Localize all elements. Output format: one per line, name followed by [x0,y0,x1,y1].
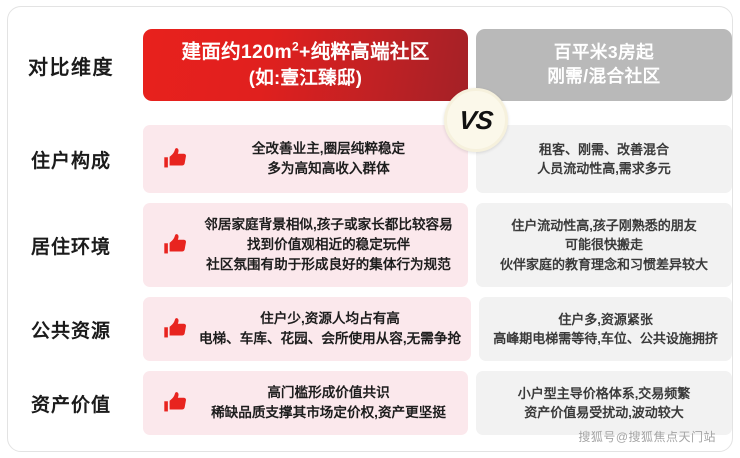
comparison-grid: 对比维度 建面约120m2+纯粹高端社区 (如:壹江臻邸) 百平米3房起 刚需/… [8,7,732,451]
spacer-left-0 [134,125,143,193]
row-label-3: 资产价值 [8,371,134,435]
con-cell-2: 住户多,资源紧张 高峰期电梯需等待,车位、公共设施拥挤 [479,297,732,361]
pro-cell-0: 全改善业主,圈层纯粹稳定 多为高知高收入群体 [143,125,468,193]
pro-cell-2: 住户少,资源人均占有高 电梯、车库、花园、会所使用从容,无需争抢 [143,297,471,361]
spacer-left-1 [134,203,143,287]
table-row: 居住环境 邻居家庭背景相似,孩子或家长都比较容易 找到价值观相近的稳定玩伴 社区… [8,203,732,287]
con-header-banner: 百平米3房起 刚需/混合社区 [476,29,732,101]
dimension-header-label: 对比维度 [8,29,134,101]
pro-cell-0-line-0: 全改善业主,圈层纯粹稳定 [252,139,405,159]
table-row: 资产价值 高门槛形成价值共识 稀缺品质支撑其市场定价权,资产更坚挺 小户型主导价… [8,371,732,435]
spacer-left-3 [134,371,143,435]
pro-cell-3-line-1: 稀缺品质支撑其市场定价权,资产更坚挺 [211,403,446,423]
con-header-line1: 百平米3房起 [554,41,654,65]
row-label-2: 公共资源 [8,297,134,361]
con-header-line2: 刚需/混合社区 [547,65,660,89]
pro-cell-2-line-0: 住户少,资源人均占有高 [260,309,400,329]
thumbs-up-icon [163,146,189,172]
spacer-mid-2 [471,297,479,361]
pro-header-line2: (如:壹江臻邸) [249,66,362,90]
thumbs-up-icon [163,316,189,342]
spacer-left [134,29,143,101]
con-cell-0: 租客、刚需、改善混合 人员流动性高,需求多元 [476,125,732,193]
con-cell-1-line-1: 可能很快搬走 [565,235,643,255]
pro-header-banner: 建面约120m2+纯粹高端社区 (如:壹江臻邸) [143,29,468,101]
pro-cell-1-line-1: 找到价值观相近的稳定玩伴 [247,235,410,255]
pro-cell-3-line-0: 高门槛形成价值共识 [267,383,389,403]
con-cell-0-line-1: 人员流动性高,需求多元 [537,159,671,179]
row-label-1: 居住环境 [8,203,134,287]
pro-header-line1-post: +纯粹高端社区 [299,41,430,63]
spacer-mid-3 [468,371,476,435]
pro-cell-1-line-2: 社区氛围有助于形成良好的集体行为规范 [206,255,451,275]
pro-header-line1-pre: 建面约120m [181,41,291,63]
vs-badge: VS [444,88,508,152]
con-cell-1: 住户流动性高,孩子刚熟悉的朋友 可能很快搬走 伙伴家庭的教育理念和习惯差异较大 [476,203,732,287]
header-row: 对比维度 建面约120m2+纯粹高端社区 (如:壹江臻邸) 百平米3房起 刚需/… [8,29,732,101]
spacer-left-2 [134,297,143,361]
con-cell-1-line-2: 伙伴家庭的教育理念和习惯差异较大 [500,255,708,275]
row-label-0: 住户构成 [8,125,134,193]
pro-header-line1: 建面约120m2+纯粹高端社区 [181,40,429,66]
comparison-card: 对比维度 建面约120m2+纯粹高端社区 (如:壹江臻邸) 百平米3房起 刚需/… [7,6,733,452]
pro-cell-3: 高门槛形成价值共识 稀缺品质支撑其市场定价权,资产更坚挺 [143,371,468,435]
pro-cell-1: 邻居家庭背景相似,孩子或家长都比较容易 找到价值观相近的稳定玩伴 社区氛围有助于… [143,203,468,287]
con-cell-1-line-0: 住户流动性高,孩子刚熟悉的朋友 [511,216,697,236]
table-row: 住户构成 全改善业主,圈层纯粹稳定 多为高知高收入群体 租客、刚需、改善混合 人… [8,125,732,193]
con-cell-3-line-0: 小户型主导价格体系,交易频繁 [518,384,691,404]
pro-cell-0-line-1: 多为高知高收入群体 [267,159,389,179]
watermark: 搜狐号@搜狐焦点天门站 [578,428,716,445]
table-row: 公共资源 住户少,资源人均占有高 电梯、车库、花园、会所使用从容,无需争抢 住户… [8,297,732,361]
vs-badge-label: VS [458,105,495,136]
con-cell-3: 小户型主导价格体系,交易频繁 资产价值易受扰动,波动较大 [476,371,732,435]
con-cell-3-line-1: 资产价值易受扰动,波动较大 [524,403,684,423]
spacer-mid-1 [468,203,476,287]
square-meter-superscript: 2 [292,39,299,53]
thumbs-up-icon [163,232,189,258]
con-cell-2-line-1: 高峰期电梯需等待,车位、公共设施拥挤 [493,329,718,349]
pro-cell-2-line-1: 电梯、车库、花园、会所使用从容,无需争抢 [199,329,461,349]
thumbs-up-icon [163,390,189,416]
con-cell-0-line-0: 租客、刚需、改善混合 [539,140,669,160]
con-cell-2-line-0: 住户多,资源紧张 [558,310,653,330]
pro-cell-1-line-0: 邻居家庭背景相似,孩子或家长都比较容易 [204,215,452,235]
